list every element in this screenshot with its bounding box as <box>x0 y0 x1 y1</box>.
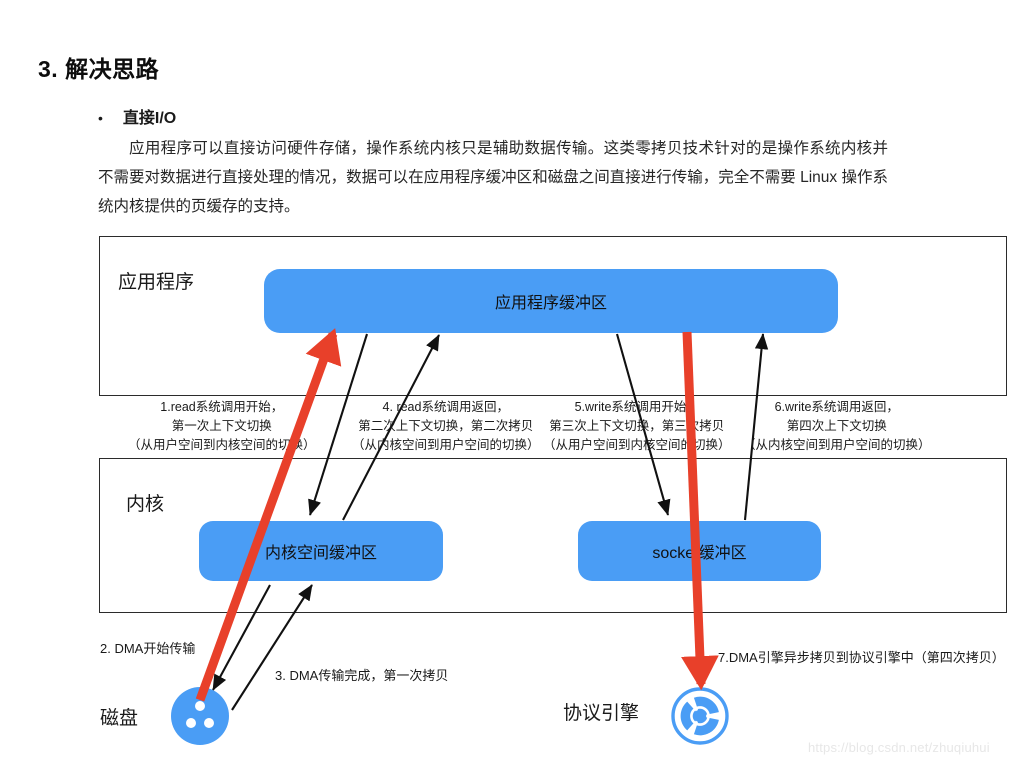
annotation-step-5-line1: 5.write系统调用开始， <box>543 398 731 417</box>
annotation-step-4-line3: （从内核空间到用户空间的切换） <box>352 436 540 455</box>
page-root: 3. 解决思路 • 直接I/O 应用程序可以直接访问硬件存储，操作系统内核只是辅… <box>0 0 1024 768</box>
radiation-icon <box>671 687 729 745</box>
annotation-dma-start: 2. DMA开始传输 <box>100 638 195 657</box>
application-buffer-label: 应用程序缓冲区 <box>495 289 607 313</box>
disk-label: 磁盘 <box>100 703 138 730</box>
kernel-buffer-label: 内核空间缓冲区 <box>265 539 377 563</box>
annotation-step-4: 4. read系统调用返回， 第二次上下文切换，第二次拷贝 （从内核空间到用户空… <box>352 398 540 455</box>
annotation-dma-engine: 7.DMA引擎异步拷贝到协议引擎中（第四次拷贝） <box>718 647 1005 666</box>
annotation-step-1: 1.read系统调用开始， 第一次上下文切换 （从用户空间到内核空间的切换） <box>128 398 316 455</box>
application-buffer-box: 应用程序缓冲区 <box>264 269 838 333</box>
annotation-step-5: 5.write系统调用开始， 第三次上下文切换，第三次拷贝 （从用户空间到内核空… <box>543 398 731 455</box>
diagram-root: 应用程序 内核 应用程序缓冲区 内核空间缓冲区 socket缓冲区 <box>0 0 1024 768</box>
disk-icon <box>171 687 229 745</box>
annotation-step-5-line2: 第三次上下文切换，第三次拷贝 <box>543 417 731 436</box>
annotation-step-6-line2: 第四次上下文切换 <box>743 417 931 436</box>
annotation-step-1-line2: 第一次上下文切换 <box>128 417 316 436</box>
annotation-step-5-line3: （从用户空间到内核空间的切换） <box>543 436 731 455</box>
kernel-frame-label: 内核 <box>126 489 164 516</box>
protocol-engine-label: 协议引擎 <box>563 698 639 725</box>
annotation-step-1-line3: （从用户空间到内核空间的切换） <box>128 436 316 455</box>
application-frame-label: 应用程序 <box>118 267 194 294</box>
annotation-step-6-line1: 6.write系统调用返回， <box>743 398 931 417</box>
annotation-step-6-line3: （从内核空间到用户空间的切换） <box>743 436 931 455</box>
kernel-buffer-box: 内核空间缓冲区 <box>199 521 443 581</box>
annotation-step-6: 6.write系统调用返回， 第四次上下文切换 （从内核空间到用户空间的切换） <box>743 398 931 455</box>
watermark: https://blog.csdn.net/zhuqiuhui <box>808 740 990 755</box>
annotation-step-1-line1: 1.read系统调用开始， <box>128 398 316 417</box>
annotation-step-4-line2: 第二次上下文切换，第二次拷贝 <box>352 417 540 436</box>
annotation-step-4-line1: 4. read系统调用返回， <box>352 398 540 417</box>
socket-buffer-label: socket缓冲区 <box>652 539 746 563</box>
socket-buffer-box: socket缓冲区 <box>578 521 821 581</box>
annotation-dma-done: 3. DMA传输完成，第一次拷贝 <box>275 665 448 684</box>
